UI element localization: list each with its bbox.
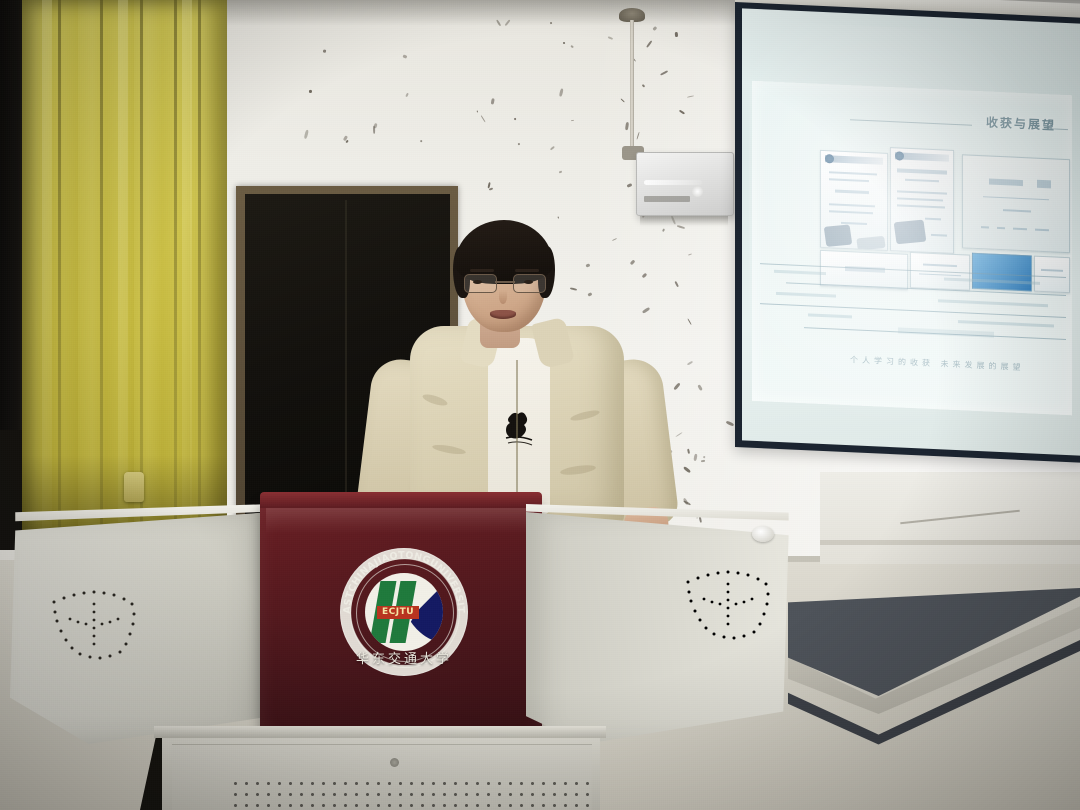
lectern-left-perforated-logo (48, 586, 148, 662)
slide-cert-6 (972, 253, 1032, 292)
door-center-seam (345, 200, 347, 530)
lecture-hall-photo: 收获与展望 (0, 0, 1080, 810)
lectern: EASTCHINAJIAOTONGUNIVERSITY ECJTU 华东交通大学 (10, 490, 800, 810)
screen-surface: 收获与展望 (742, 8, 1080, 455)
emblem-core: ECJTU (365, 573, 443, 651)
presenter (352, 222, 682, 522)
slide-cert-2 (890, 147, 954, 254)
projection-screen: 收获与展望 (735, 0, 1080, 482)
lectern-right-perforated-logo (682, 566, 782, 642)
emblem-monogram: ECJTU (377, 606, 419, 619)
slide-cert-7 (1034, 256, 1070, 294)
glasses-lens-left (464, 274, 497, 293)
emblem-chinese-name: 华东交通大学 (354, 648, 454, 667)
lectern-control-knob[interactable] (752, 526, 774, 542)
tshirt-graphic-print (502, 408, 538, 450)
glasses-bridge (495, 281, 515, 283)
lectern-vent-perforation (230, 778, 590, 810)
projector-lens (692, 186, 703, 197)
presenter-mouth (490, 310, 516, 319)
slide-title: 收获与展望 (986, 113, 1056, 133)
slide-cert-1 (820, 150, 888, 251)
projector-pole (630, 20, 634, 152)
wall-rail (820, 540, 1080, 545)
slide-cert-3 (962, 154, 1070, 253)
lectern-front-gloss (266, 508, 534, 534)
lectern-base-screw (390, 758, 399, 767)
projector-brand-mark (644, 196, 690, 202)
lectern-front-top-edge (260, 492, 542, 508)
lectern-base-lip (154, 726, 606, 738)
slide-footer-text: 个人学习的收获 未来发展的展望 (850, 354, 1025, 373)
presentation-slide: 收获与展望 (752, 81, 1072, 416)
university-emblem: EASTCHINAJIAOTONGUNIVERSITY ECJTU 华东交通大学 (340, 548, 468, 676)
projector-gloss (644, 180, 702, 185)
presenter-nose (499, 290, 507, 304)
